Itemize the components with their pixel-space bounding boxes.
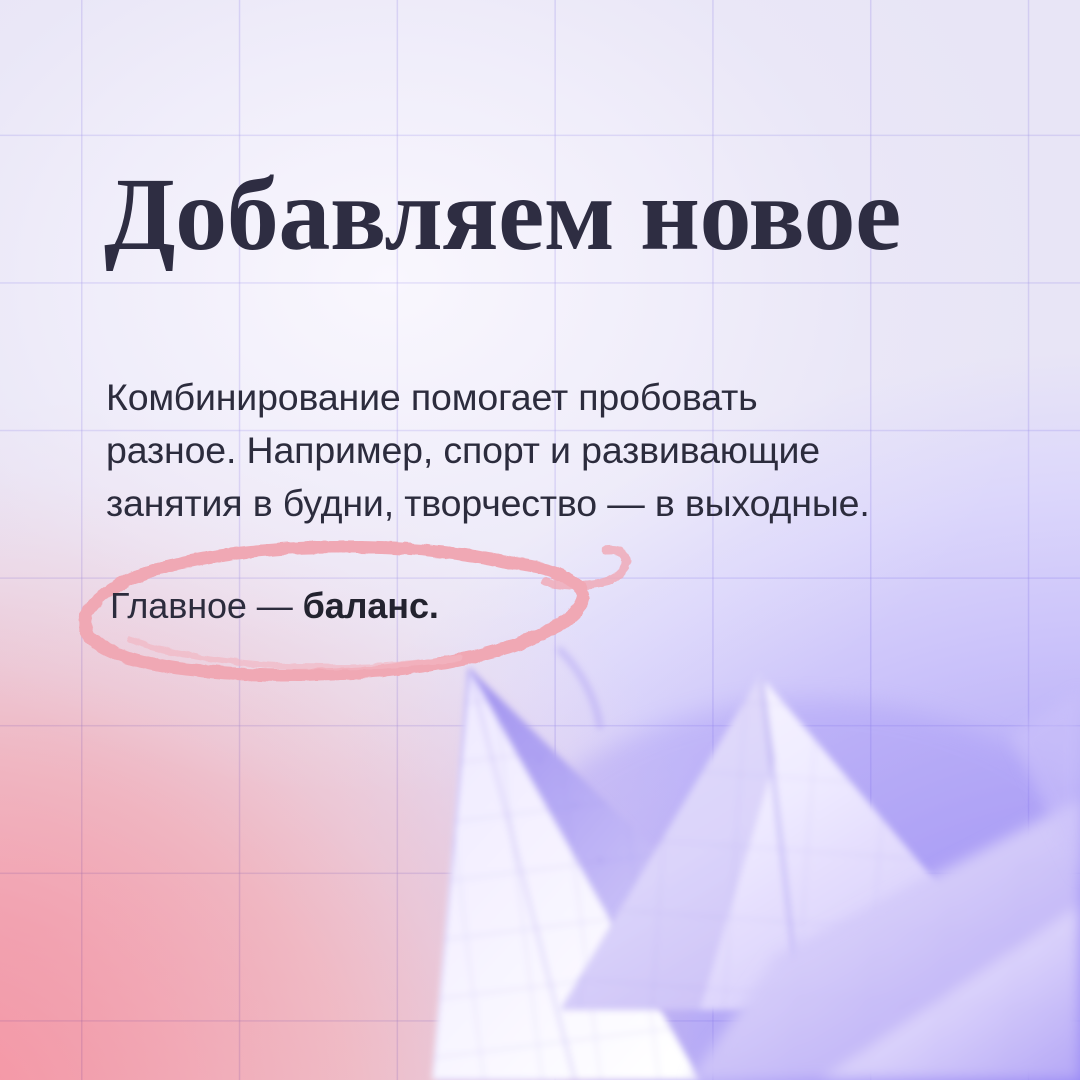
- poster-canvas: Добавляем новое Комбинирование помогает …: [0, 0, 1080, 1080]
- kicker-prefix: Главное —: [110, 585, 303, 626]
- kicker-emphasis: баланс.: [303, 585, 439, 626]
- body-paragraph: Комбинирование помогает пробовать разное…: [106, 371, 986, 530]
- copy-block: Добавляем новое Комбинирование помогает …: [0, 0, 1080, 1080]
- body-line-2: разное. Например, спорт и развивающие: [106, 424, 986, 477]
- body-line-1: Комбинирование помогает пробовать: [106, 371, 986, 424]
- body-line-3: занятия в будни, творчество — в выходные…: [106, 477, 986, 530]
- page-title: Добавляем новое: [104, 163, 901, 267]
- kicker-line: Главное — баланс.: [110, 584, 439, 628]
